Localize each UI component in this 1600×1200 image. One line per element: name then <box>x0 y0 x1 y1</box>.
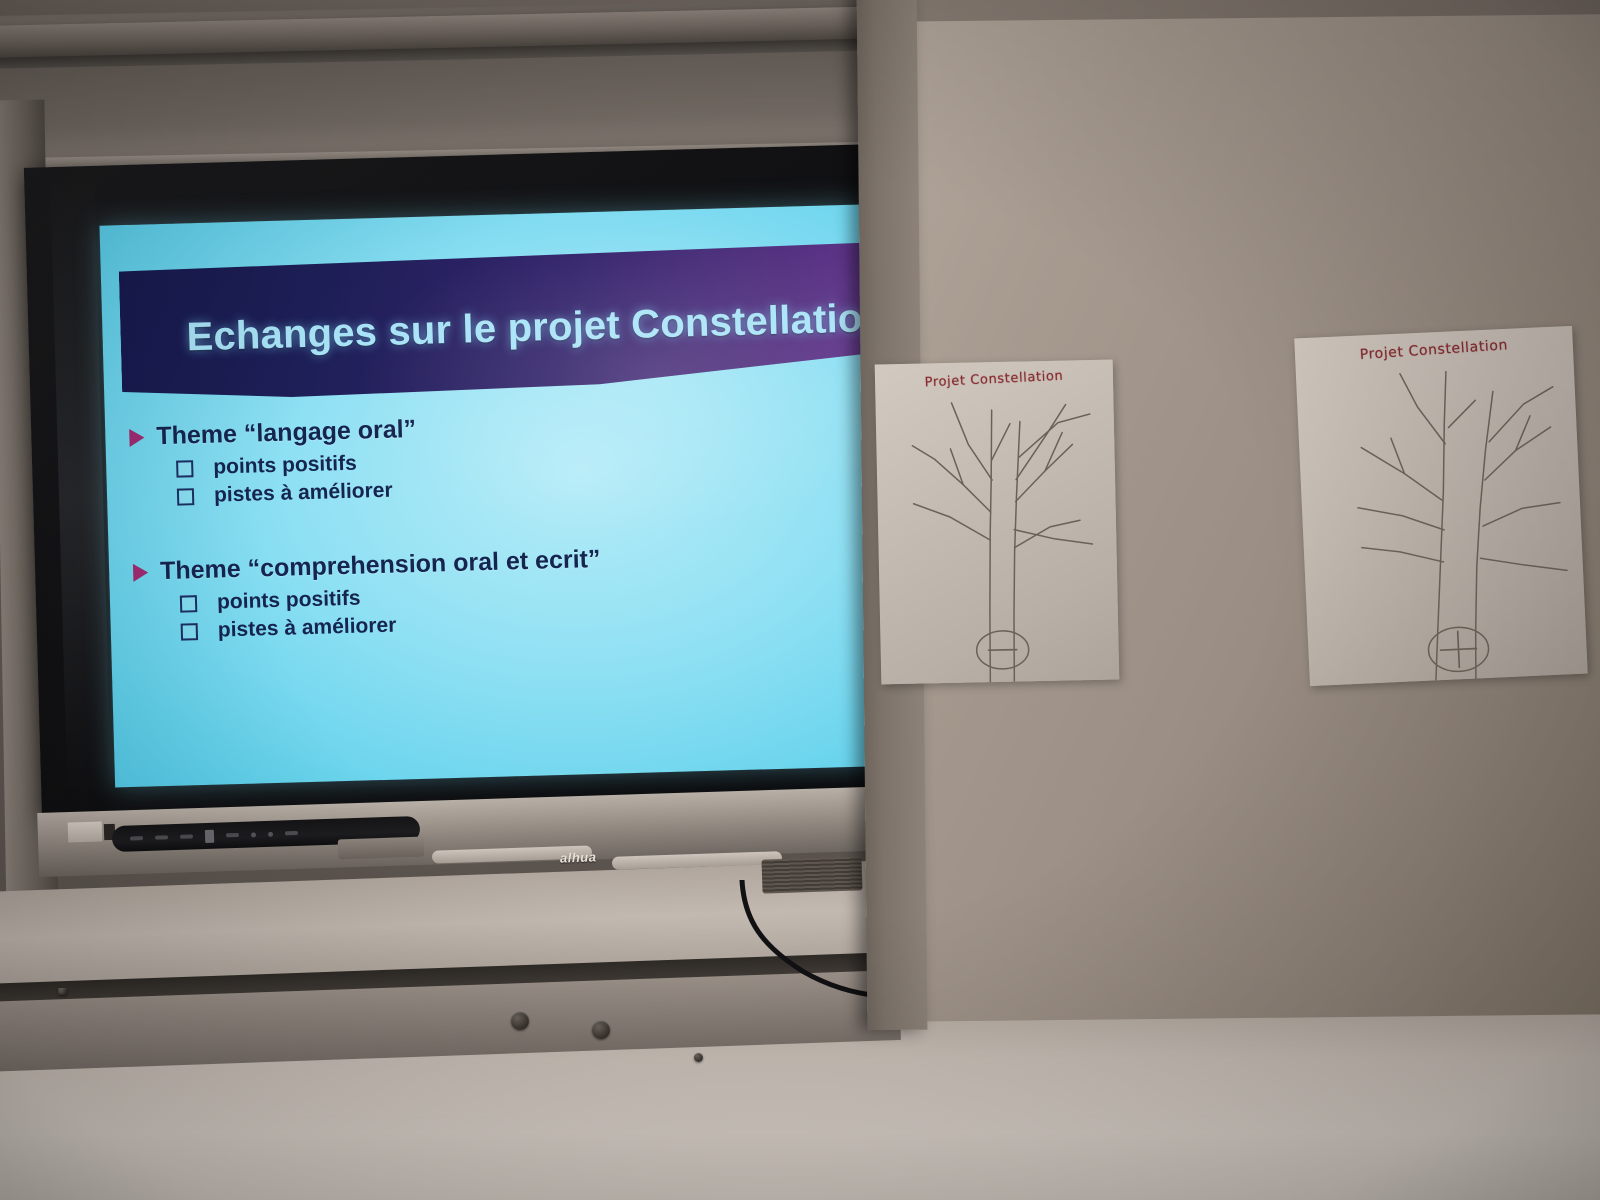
bullet-sub-1-1-label: points positifs <box>213 452 357 480</box>
brand-logo: alhua <box>560 849 597 865</box>
square-bullet-icon <box>181 623 198 640</box>
poster-minus[interactable]: Projet Constellation <box>875 360 1120 685</box>
square-bullet-icon <box>180 595 197 612</box>
bullet-sub-2-2-label: pistes à améliorer <box>217 614 396 643</box>
shelf-screw <box>58 988 67 995</box>
poster-plus[interactable]: Projet Constellation <box>1294 326 1588 686</box>
display-rating-label <box>68 821 103 842</box>
square-bullet-icon <box>176 460 193 477</box>
bullet-sub-2-1-label: points positifs <box>217 587 361 615</box>
sensor-icon <box>268 831 273 836</box>
square-bullet-icon <box>177 488 194 505</box>
volume-button[interactable] <box>226 833 239 837</box>
home-button[interactable] <box>285 831 298 835</box>
triangle-bullet-icon <box>129 428 144 446</box>
shelf-bolt <box>511 1012 529 1030</box>
bullet-heading-1-label: Theme “langage oral” <box>156 415 417 451</box>
speaker-grille-right <box>761 856 862 893</box>
usb-port-icon[interactable] <box>205 829 214 842</box>
display-screen[interactable]: Echanges sur le projet Constellation The… <box>99 204 876 787</box>
triangle-bullet-icon <box>133 563 148 581</box>
presentation-slide: Echanges sur le projet Constellation The… <box>99 204 876 787</box>
tree-drawing <box>875 360 1120 685</box>
bullet-sub-1-2-label: pistes à améliorer <box>214 479 393 508</box>
power-button[interactable] <box>130 836 143 840</box>
shelf-screw <box>694 1053 703 1062</box>
classroom-photo-scene: Echanges sur le projet Constellation The… <box>0 0 1600 1200</box>
speaker-grille-left <box>338 837 425 860</box>
status-led-icon <box>251 832 256 837</box>
menu-button[interactable] <box>180 834 193 838</box>
slide-bullet-list: Theme “langage oral” points positifs pis… <box>129 402 875 649</box>
source-button[interactable] <box>155 835 168 839</box>
tree-drawing <box>1294 326 1588 686</box>
shelf-bolt <box>592 1021 610 1039</box>
